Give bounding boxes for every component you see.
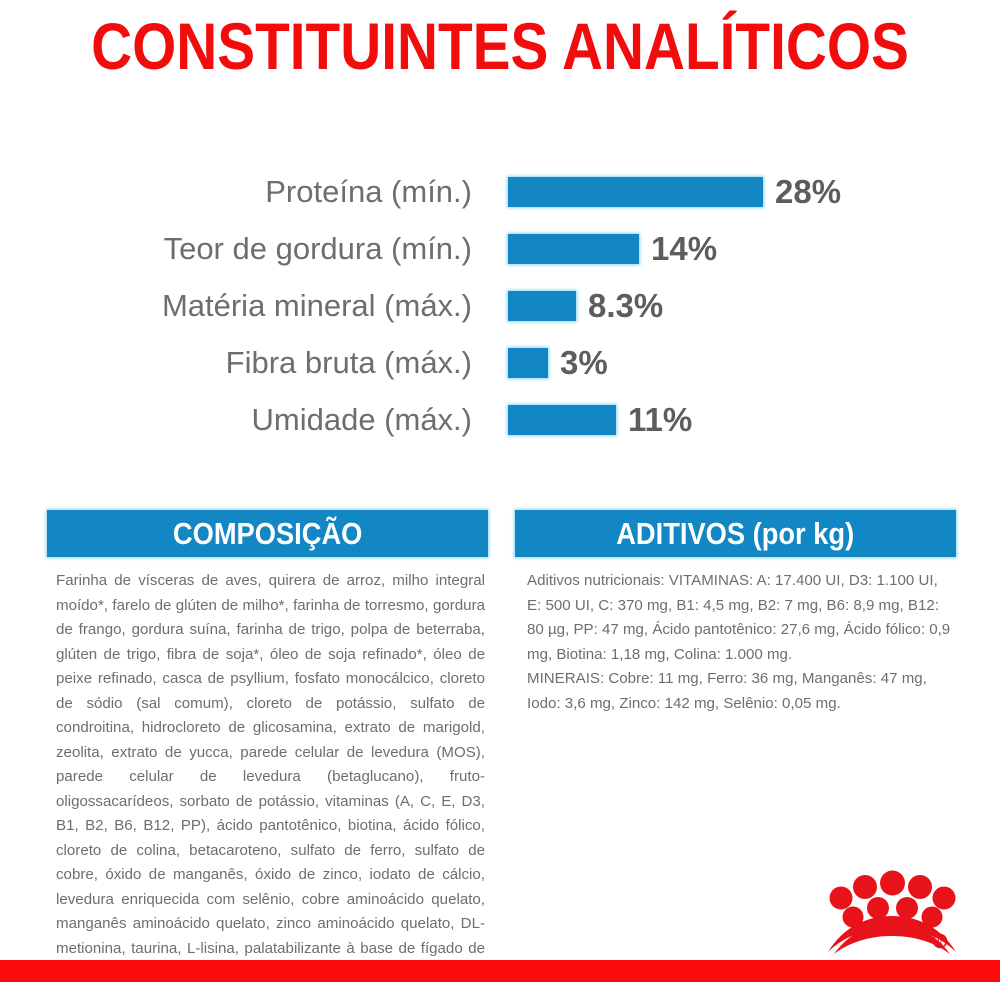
bar-label: Teor de gordura (mín.) <box>164 232 472 266</box>
bar-track: 14% <box>508 234 717 264</box>
bar-track: 11% <box>508 405 692 435</box>
additives-minerals-text: MINERAIS: Cobre: 11 mg, Ferro: 36 mg, Ma… <box>527 667 956 716</box>
bar-value: 3% <box>560 346 608 379</box>
svg-text:R: R <box>937 937 943 947</box>
composition-panel: COMPOSIÇÃO Farinha de vísceras de aves, … <box>47 510 488 986</box>
composition-panel-header: COMPOSIÇÃO <box>47 510 488 557</box>
bar-fill <box>508 234 639 264</box>
bar-track: 28% <box>508 177 841 207</box>
bottom-red-stripe <box>0 960 1000 982</box>
bar-label: Proteína (mín.) <box>265 175 472 209</box>
bar-value: 28% <box>775 175 841 208</box>
bar-label: Umidade (máx.) <box>252 403 473 437</box>
bar-track: 8.3% <box>508 291 663 321</box>
bar-label: Fibra bruta (máx.) <box>226 346 472 380</box>
bar-fill <box>508 177 763 207</box>
additives-header-text: ADITIVOS (por kg) <box>617 517 855 550</box>
bar-value: 8.3% <box>588 289 663 322</box>
bar-label: Matéria mineral (máx.) <box>162 289 472 323</box>
bar-track: 3% <box>508 348 608 378</box>
additives-panel-body: Aditivos nutricionais: VITAMINAS: A: 17.… <box>515 557 956 716</box>
chart-row-fat: Teor de gordura (mín.) 14% <box>0 220 1000 277</box>
composition-panel-body: Farinha de vísceras de aves, quirera de … <box>47 557 488 986</box>
bar-value: 11% <box>628 403 692 436</box>
bar-value: 14% <box>651 232 717 265</box>
chart-row-crude-fibre: Fibra bruta (máx.) 3% <box>0 334 1000 391</box>
chart-row-moisture: Umidade (máx.) 11% <box>0 391 1000 448</box>
chart-row-protein: Proteína (mín.) 28% <box>0 163 1000 220</box>
bar-fill <box>508 291 576 321</box>
royal-canin-crown-logo: R <box>820 870 965 955</box>
additives-vitamins-text: Aditivos nutricionais: VITAMINAS: A: 17.… <box>527 569 956 667</box>
composition-header-text: COMPOSIÇÃO <box>173 517 362 550</box>
chart-row-mineral-matter: Matéria mineral (máx.) 8.3% <box>0 277 1000 334</box>
analytical-constituents-chart: Proteína (mín.) 28% Teor de gordura (mín… <box>0 163 1000 448</box>
bar-fill <box>508 405 616 435</box>
composition-text: Farinha de vísceras de aves, quirera de … <box>56 569 485 986</box>
additives-panel: ADITIVOS (por kg) Aditivos nutricionais:… <box>515 510 956 716</box>
page-title: CONSTITUINTES ANALÍTICOS <box>70 8 930 84</box>
additives-panel-header: ADITIVOS (por kg) <box>515 510 956 557</box>
bar-fill <box>508 348 548 378</box>
